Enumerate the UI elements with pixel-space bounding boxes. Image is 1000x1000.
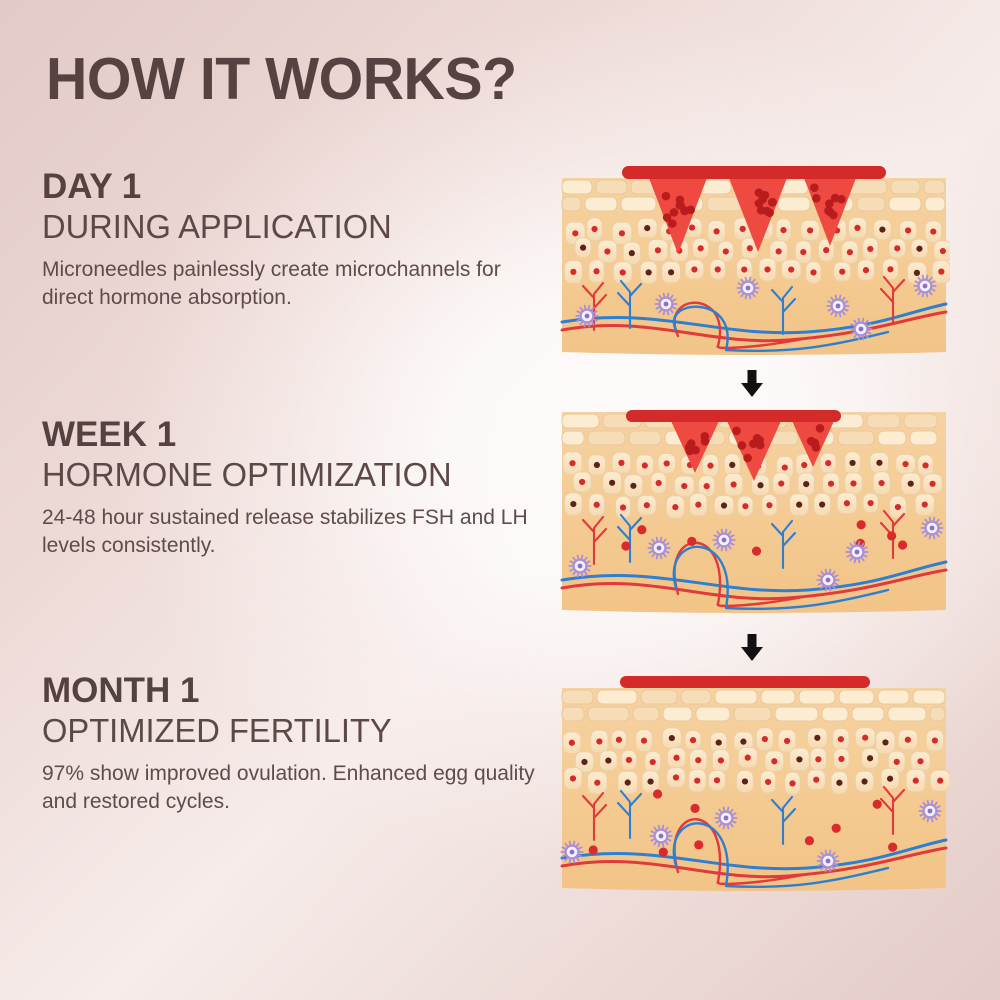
step-month-1: MONTH 1 OPTIMIZED FERTILITY 97% show imp…: [42, 672, 542, 816]
step-body-text: 24-48 hour sustained release stabilizes …: [42, 504, 537, 560]
flow-arrow-1: [738, 368, 766, 398]
patch-backing-bar: [622, 166, 886, 179]
skin-diagram-week-1: [558, 398, 950, 614]
step-headline-label: HORMONE OPTIMIZATION: [42, 456, 537, 495]
patch-backing-bar: [626, 410, 841, 422]
flow-arrow-2: [738, 632, 766, 662]
patch-backing-bar: [620, 676, 870, 688]
skin-diagram-week-1: [558, 398, 950, 614]
down-arrow-icon: [741, 370, 763, 397]
step-headline-label: OPTIMIZED FERTILITY: [42, 712, 537, 751]
infographic-page: HOW IT WORKS? DAY 1 DURING APPLICATION M…: [0, 0, 1000, 1000]
step-body-text: Microneedles painlessly create microchan…: [42, 256, 537, 312]
step-period-label: WEEK 1: [42, 416, 542, 454]
step-week-1: WEEK 1 HORMONE OPTIMIZATION 24-48 hour s…: [42, 416, 542, 560]
step-headline-label: DURING APPLICATION: [42, 208, 537, 247]
skin-diagram-day-1: [558, 164, 950, 356]
page-title: HOW IT WORKS?: [46, 50, 517, 109]
step-period-label: DAY 1: [42, 168, 542, 206]
step-day-1: DAY 1 DURING APPLICATION Microneedles pa…: [42, 168, 542, 312]
down-arrow-icon: [741, 634, 763, 661]
skin-diagram-month-1: [558, 668, 950, 892]
step-period-label: MONTH 1: [42, 672, 542, 710]
skin-diagram-month-1: [558, 668, 950, 892]
step-body-text: 97% show improved ovulation. Enhanced eg…: [42, 760, 537, 816]
skin-diagram-day-1: [558, 164, 950, 356]
